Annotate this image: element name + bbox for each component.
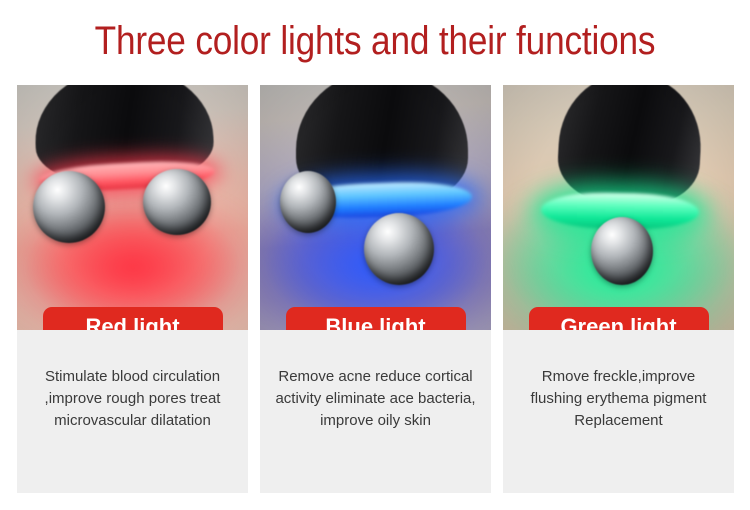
- card-row: Red light Stimulate blood circulation ,i…: [17, 85, 734, 493]
- infographic-page: Three color lights and their functions R…: [0, 0, 750, 510]
- massage-ball-icon: [280, 171, 336, 233]
- badge-green-light: Green light: [529, 307, 709, 330]
- description-text: Stimulate blood circulation ,improve rou…: [31, 366, 234, 432]
- card-green-light[interactable]: Green light Rmove freckle,improve flushi…: [503, 85, 734, 493]
- description-text: Rmove freckle,improve flushing erythema …: [517, 366, 720, 432]
- massage-ball-icon: [364, 213, 434, 285]
- card-description-green: Rmove freckle,improve flushing erythema …: [503, 330, 734, 493]
- device-head-icon: [556, 85, 705, 209]
- description-text: Remove acne reduce cortical activity eli…: [274, 366, 477, 432]
- product-photo-green-light: Green light: [503, 85, 734, 330]
- massage-ball-icon: [591, 217, 653, 285]
- card-description-blue: Remove acne reduce cortical activity eli…: [260, 330, 491, 493]
- badge-red-light: Red light: [43, 307, 223, 330]
- page-title: Three color lights and their functions: [45, 16, 705, 66]
- massage-ball-icon: [143, 169, 211, 235]
- product-photo-red-light: Red light: [17, 85, 248, 330]
- product-photo-blue-light: Blue light: [260, 85, 491, 330]
- card-red-light[interactable]: Red light Stimulate blood circulation ,i…: [17, 85, 248, 493]
- badge-blue-light: Blue light: [286, 307, 466, 330]
- card-blue-light[interactable]: Blue light Remove acne reduce cortical a…: [260, 85, 491, 493]
- card-description-red: Stimulate blood circulation ,improve rou…: [17, 330, 248, 493]
- massage-ball-icon: [33, 171, 105, 243]
